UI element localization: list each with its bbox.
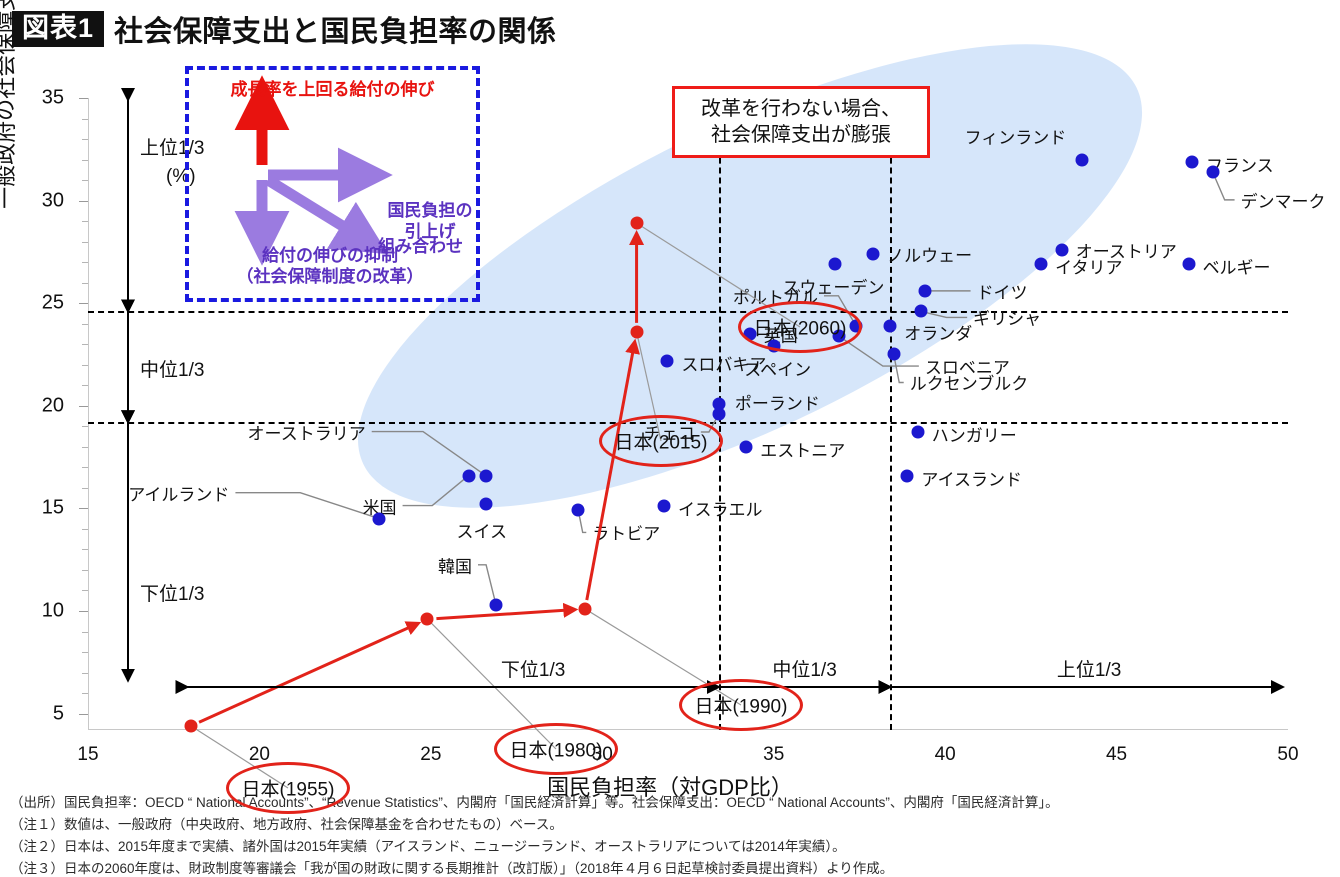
japan-data-point[interactable] <box>630 325 643 338</box>
horizontal-tertile-label: 下位1/3 <box>501 655 565 682</box>
figure-page: 図表1 社会保障支出と国民負担率の関係 51015202530351520253… <box>0 0 1340 877</box>
y-tick-minor <box>82 529 88 530</box>
page-title: 図表1 社会保障支出と国民負担率の関係 <box>12 8 557 50</box>
y-tick-minor <box>82 467 88 468</box>
data-point-label: ルクセンブルク <box>910 370 1029 395</box>
x-tick-label: 25 <box>420 744 441 766</box>
data-point[interactable] <box>661 354 674 367</box>
data-point-label: ドイツ <box>977 278 1028 303</box>
y-axis-title: 一般政府の社会保障支出（対GDP比） <box>0 0 20 230</box>
data-point[interactable] <box>462 469 475 482</box>
data-point-label: ハンガリー <box>932 422 1017 447</box>
data-point[interactable] <box>901 469 914 482</box>
data-point[interactable] <box>1076 153 1089 166</box>
data-point[interactable] <box>658 500 671 513</box>
callout-line1: 改革を行わない場合、 <box>701 98 901 120</box>
y-tick-minor <box>82 632 88 633</box>
y-tick-mark <box>79 303 88 304</box>
data-point[interactable] <box>911 426 924 439</box>
japan-point-label: 日本(2015) <box>615 428 708 455</box>
data-point-label: ラトビア <box>592 520 660 545</box>
data-point-label: オーストラリア <box>88 419 366 444</box>
y-tick-minor <box>82 652 88 653</box>
footnote-1: （注１）数値は、一般政府（中央政府、地方政府、社会保障基金を合わせたもの）ベース… <box>10 814 1340 836</box>
y-tick-minor <box>82 549 88 550</box>
reform-callout-box: 改革を行わない場合、 社会保障支出が膨張 <box>672 86 930 158</box>
y-tick-label: 20 <box>18 394 64 417</box>
data-point[interactable] <box>829 258 842 271</box>
japan-data-point[interactable] <box>579 602 592 615</box>
horizontal-tertile-label: 中位1/3 <box>772 655 836 682</box>
data-point-label: オランダ <box>904 319 972 344</box>
footnote-3: （注３）日本の2060年度は、財政制度等審議会「我が国の財政に関する長期推計（改… <box>10 858 1340 877</box>
data-point[interactable] <box>887 348 900 361</box>
y-tick-minor <box>82 180 88 181</box>
data-point[interactable] <box>479 469 492 482</box>
y-tick-label: 35 <box>18 87 64 110</box>
data-point-label: デンマーク <box>1241 187 1326 212</box>
japan-data-point[interactable] <box>184 719 197 732</box>
vertical-tertile-label: 下位1/3 <box>140 579 204 606</box>
data-point[interactable] <box>373 512 386 525</box>
x-tick-label: 35 <box>763 744 784 766</box>
y-tick-label: 25 <box>18 292 64 315</box>
data-point-label: ベルギー <box>1203 254 1271 279</box>
y-tick-minor <box>82 673 88 674</box>
data-point[interactable] <box>479 498 492 511</box>
data-point-label: アイルランド <box>88 480 229 505</box>
y-tick-label: 15 <box>18 497 64 520</box>
data-point[interactable] <box>918 284 931 297</box>
y-tick-minor <box>82 385 88 386</box>
y-tick-minor <box>82 221 88 222</box>
data-point-label: エストニア <box>760 436 845 461</box>
y-tick-minor <box>82 160 88 161</box>
y-tick-minor <box>82 365 88 366</box>
y-tick-mark <box>79 714 88 715</box>
y-tick-minor <box>82 262 88 263</box>
data-point-label: イスラエル <box>678 496 763 521</box>
y-tick-label: 10 <box>18 599 64 622</box>
japan-data-point[interactable] <box>421 613 434 626</box>
footnote-2: （注２）日本は、2015年度まで実績、諸外国は2015年実績（アイスランド、ニュ… <box>10 836 1340 858</box>
data-point[interactable] <box>572 504 585 517</box>
japan-point-label: 日本(1955) <box>242 775 335 802</box>
y-tick-mark <box>79 98 88 99</box>
y-tick-label: 30 <box>18 189 64 212</box>
y-tick-mark <box>79 508 88 509</box>
data-point-label: 韓国 <box>88 552 472 577</box>
data-point[interactable] <box>1186 155 1199 168</box>
y-tick-minor <box>82 242 88 243</box>
y-tick-minor <box>82 590 88 591</box>
data-point[interactable] <box>1035 258 1048 271</box>
data-point[interactable] <box>867 247 880 260</box>
y-tick-minor <box>82 324 88 325</box>
data-point-label: アイスランド <box>921 465 1022 490</box>
callout-text: 改革を行わない場合、 社会保障支出が膨張 <box>701 96 901 148</box>
figure-title-text: 社会保障支出と国民負担率の関係 <box>114 8 557 50</box>
y-tick-minor <box>82 344 88 345</box>
y-tick-mark <box>79 611 88 612</box>
data-point-label: スロバキア <box>681 350 766 375</box>
footnote-source: （出所）国民負担率：OECD “ National Accounts”、“Rev… <box>10 792 1340 814</box>
data-point[interactable] <box>712 408 725 421</box>
data-point[interactable] <box>490 598 503 611</box>
data-point-label: スイス <box>456 518 507 543</box>
data-point[interactable] <box>884 319 897 332</box>
y-tick-mark <box>79 406 88 407</box>
x-tick-label: 40 <box>935 744 956 766</box>
data-point[interactable] <box>1182 258 1195 271</box>
concept-top-label: 成長率を上回る給付の伸び <box>190 75 475 100</box>
y-tick-minor <box>82 447 88 448</box>
vertical-tertile-label: 中位1/3 <box>140 355 204 382</box>
horizontal-tertile-label: 上位1/3 <box>1057 655 1121 682</box>
data-point-label: ノルウェー <box>887 241 972 266</box>
x-tick-label: 15 <box>77 744 98 766</box>
data-point[interactable] <box>740 440 753 453</box>
vertical-tertile-divider <box>890 98 892 730</box>
data-point-label: ポーランド <box>735 389 820 414</box>
concept-combination-label: 組み合わせ <box>378 236 498 257</box>
callout-line2: 社会保障支出が膨張 <box>711 124 891 146</box>
footnotes: （出所）国民負担率：OECD “ National Accounts”、“Rev… <box>10 792 1340 877</box>
data-point[interactable] <box>915 305 928 318</box>
japan-data-point[interactable] <box>630 217 643 230</box>
japan-point-label: 日本(1990) <box>695 692 788 719</box>
horizontal-tertile-divider <box>88 311 1288 313</box>
data-point-label: ギリシャ <box>973 305 1041 330</box>
y-tick-label: 5 <box>18 702 64 725</box>
y-tick-mark <box>79 201 88 202</box>
figure-badge: 図表1 <box>12 11 104 47</box>
y-tick-minor <box>82 693 88 694</box>
x-tick-label: 50 <box>1277 744 1298 766</box>
data-point-label: イタリア <box>1055 254 1122 279</box>
x-tick-label: 45 <box>1106 744 1127 766</box>
y-tick-minor <box>82 119 88 120</box>
data-point[interactable] <box>1206 165 1219 178</box>
japan-point-label: 日本(1980) <box>510 736 603 763</box>
japan-point-label: 日本(2060) <box>754 314 847 341</box>
